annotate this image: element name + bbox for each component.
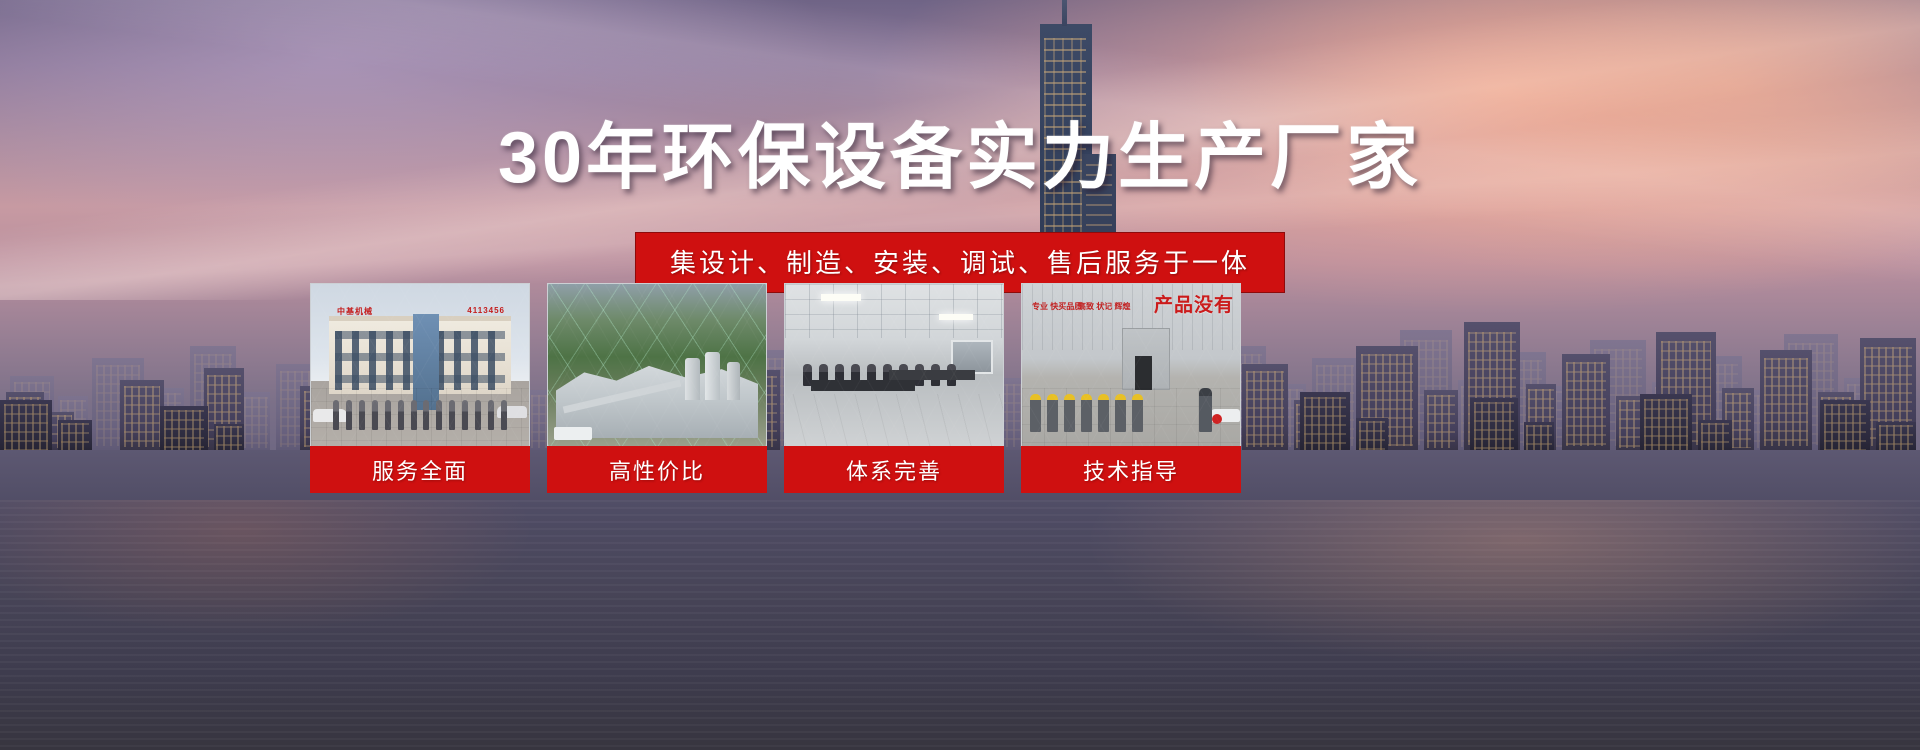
feature-card-list: 中基机械 4113456 服务全面 高性价比 [310,283,1560,493]
feature-card-4-caption: 技术指导 [1021,446,1241,493]
feature-card-4[interactable]: 产品没有 专业 快买品质 高致 状记 辉煌 技术指导 [1021,283,1241,493]
watermark-overlay [1022,284,1240,446]
feature-card-3-caption: 体系完善 [784,446,1004,493]
company-headquarters-photo: 中基机械 4113456 [310,283,530,446]
watermark-overlay [785,284,1003,446]
page-title: 30年环保设备实力生产厂家 [0,98,1920,203]
factory-workers-photo: 产品没有 专业 快买品质 高致 状记 辉煌 [1021,283,1241,446]
feature-card-1-caption: 服务全面 [310,446,530,493]
office-team-photo [784,283,1004,446]
subtitle-text: 集设计、制造、安装、调试、售后服务于一体 [670,243,1250,280]
aerial-plant-photo [547,283,767,446]
feature-card-2-caption: 高性价比 [547,446,767,493]
watermark-overlay [548,284,766,446]
water-reflection [0,500,1920,750]
feature-card-3[interactable]: 体系完善 [784,283,1004,493]
hero-banner: 30年环保设备实力生产厂家 集设计、制造、安装、调试、售后服务于一体 中基机械 … [0,0,1920,750]
watermark-overlay [311,284,529,446]
feature-card-2[interactable]: 高性价比 [547,283,767,493]
feature-card-1[interactable]: 中基机械 4113456 服务全面 [310,283,530,493]
